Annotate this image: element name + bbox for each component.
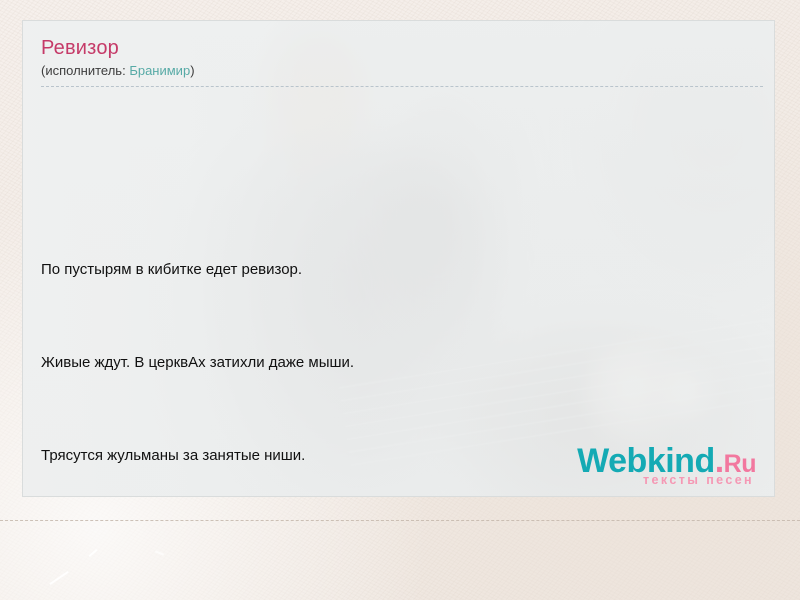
site-logo[interactable]: Webkind.Ru тексты песен (577, 444, 756, 487)
lyrics-line: Живые ждут. В церквАх затихли даже мыши. (41, 347, 756, 378)
lyrics-line: По пустырям в кибитке едет ревизор. (41, 254, 756, 285)
page-title: Ревизор (41, 35, 756, 61)
artist-prefix-label: (исполнитель: (41, 63, 126, 78)
lyrics-content-panel: Ревизор (исполнитель: Бранимир) По пусты… (22, 20, 775, 497)
artist-link[interactable]: Бранимир (129, 63, 190, 78)
artist-suffix-label: ) (190, 63, 194, 78)
artist-line: (исполнитель: Бранимир) (41, 62, 756, 86)
lyrics-body: По пустырям в кибитке едет ревизор. Живы… (41, 87, 756, 497)
panel-inner: Ревизор (исполнитель: Бранимир) По пусты… (23, 21, 774, 497)
